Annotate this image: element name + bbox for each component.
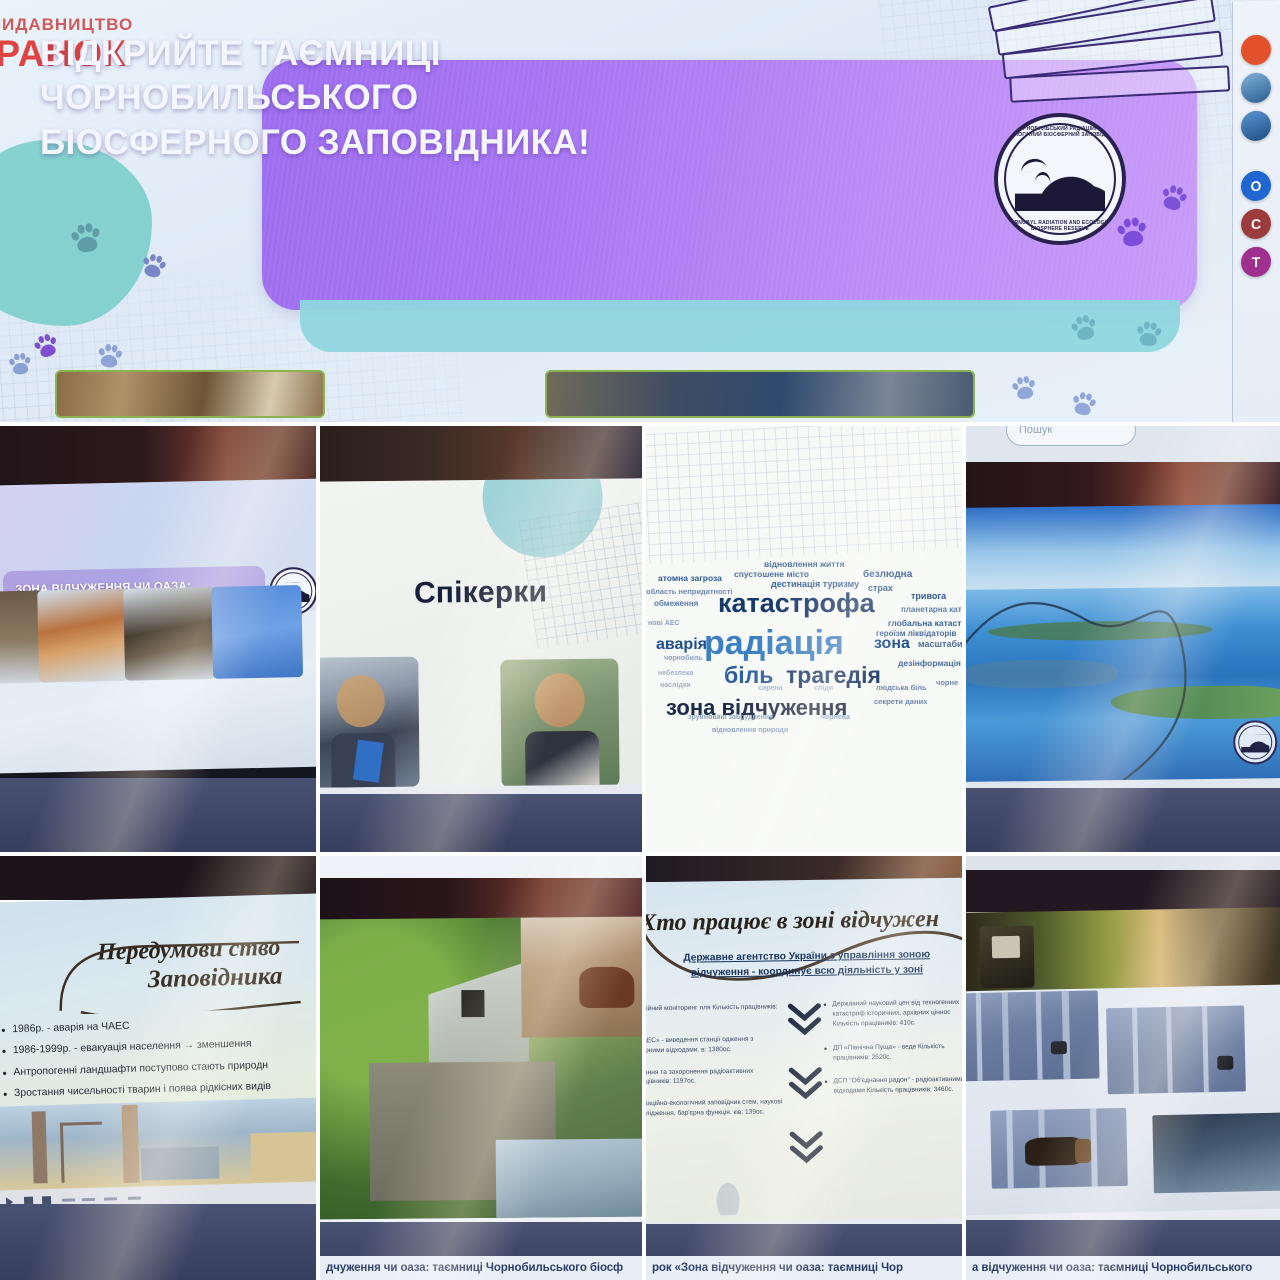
word-cloud-term: сирена [758, 685, 783, 692]
caption-bar: рок «Зона відчуження чи оаза: таємниці Ч… [646, 1256, 962, 1280]
word-cloud-term: дезінформація [898, 659, 961, 668]
word-cloud-term: чорнобиль [664, 655, 703, 662]
camera-trap-photo-2 [1106, 1005, 1246, 1094]
word-cloud-term: зона [874, 636, 910, 652]
dark-room-top [320, 878, 642, 920]
word-cloud-term: аварія [656, 637, 707, 653]
horse-inset-photo [521, 917, 642, 1038]
banner-screenshot: ВИДАВНИЦТВО РАНОК ВІДКРИЙТЕ ТАЄМНИЦІ ЧОР… [0, 0, 1280, 422]
word-cloud-term: людська біль [876, 684, 927, 692]
projection-screen: Хто працює в зоні відчужен Державне аген… [646, 878, 962, 1223]
speaker-photo-1 [320, 657, 420, 788]
who-works-item: ДСП "Об'єднання радон" - радіоактивними … [824, 1075, 962, 1097]
projection-screen: Передумови ство Заповідника 1986р. - ава… [0, 893, 316, 1212]
hand-title-swoosh [49, 928, 311, 1015]
dark-room-bottom [320, 794, 642, 852]
dark-room-bottom [0, 778, 316, 852]
animal-photo-swans [211, 585, 303, 679]
avatar-face [534, 673, 585, 728]
word-cloud-term: масштаби [918, 640, 962, 649]
who-works-item: ДП «Північна Пуща» - веде Кількість прац… [824, 1041, 962, 1063]
who-works-item: ка АЕС» - виведення станції одження з яд… [646, 1034, 784, 1056]
banner-title-line1: ВІДКРИЙТЕ ТАЄМНИЦІ [40, 32, 700, 76]
word-cloud-term: героїзм ліквідаторів [876, 630, 956, 638]
seal-bottom-text: CHORNOBYL RADIATION AND ECOLOGICAL BIOSP… [998, 220, 1122, 232]
slide-bullet-item: 1986р. - аварія на ЧАЕС [0, 1015, 316, 1037]
word-cloud-term: чорне [936, 679, 958, 687]
bullet-dot: • [824, 1076, 827, 1090]
rail-participant-s[interactable]: С [1241, 208, 1271, 239]
paw-print-icon [1136, 319, 1162, 347]
aerial-photo [966, 504, 1280, 782]
banner-teal-underbar [300, 300, 1180, 352]
dark-room-top [0, 426, 316, 484]
word-cloud-term: біль [724, 664, 773, 687]
animal-silhouette [1051, 1041, 1067, 1054]
forward-icon[interactable] [82, 1198, 95, 1201]
slide-bullet-item: 1986-1999р. - евакуація населення → змен… [0, 1037, 316, 1059]
photo-who-works-slide: Хто працює в зоні відчужен Державне аген… [646, 856, 962, 1280]
rail-participant-t[interactable]: Т [1241, 246, 1271, 277]
rewind-icon[interactable] [62, 1198, 75, 1201]
projection-screen: ЗОНА ВІДЧУЖЕННЯ ЧИ ОАЗА: ТАЄМНИЦІ ЧОРНОБ… [0, 479, 316, 774]
camera-trap-photo-3 [990, 1108, 1128, 1189]
caption-bar: а відчуження чи оаза: таємниці Чорнобиль… [966, 1256, 1280, 1280]
projection-screen: Спікерки Марія Мельничук-Володькіна кері… [320, 478, 642, 787]
hare-watermark [708, 1169, 749, 1216]
word-cloud-term: страх [868, 584, 893, 593]
chevron-down-icon [789, 1130, 823, 1164]
camera-trap-photo-4 [1152, 1113, 1280, 1194]
word-cloud-term: планетарна кат [901, 606, 962, 614]
word-cloud-term: обмеження [654, 600, 698, 608]
rail-record-indicator[interactable] [1241, 34, 1271, 65]
animal-silhouette [1217, 1056, 1233, 1070]
rail-participant-o[interactable]: О [1241, 170, 1271, 201]
paw-print-icon [70, 220, 103, 254]
bullet-dot: • [823, 999, 826, 1013]
abandoned-house-photo [320, 917, 642, 1220]
thumbnail-forest-1 [55, 370, 325, 418]
word-cloud-term: катастрофа [718, 590, 875, 617]
elk-silhouette [1025, 1137, 1082, 1166]
photo-title-slide: ЗОНА ВІДЧУЖЕННЯ ЧИ ОАЗА: ТАЄМНИЦІ ЧОРНОБ… [0, 426, 316, 852]
laptop-lid-edge [966, 856, 1280, 870]
seal-landscape-scene [1241, 734, 1270, 753]
dark-room-bottom [966, 788, 1280, 852]
dark-room-top [966, 870, 1280, 912]
word-cloud-term: атомна загроза [658, 574, 722, 583]
publisher-logo-top: ВИДАВНИЦТВО [0, 16, 136, 33]
camera-lens [992, 936, 1020, 958]
word-cloud-term: безлюдна [863, 570, 912, 580]
slide-bullet-item: Антропогенні ландшафти поступово стають … [0, 1058, 316, 1080]
end-icon[interactable] [128, 1197, 141, 1200]
who-works-right-column: Державний науковий цен від техногенних к… [823, 998, 962, 1111]
paw-print-icon [8, 351, 31, 376]
camera-trap-banner-photo [966, 907, 1280, 995]
who-works-left-column: діаційний моніторинг лля Кількість праці… [646, 1002, 785, 1131]
next-icon[interactable] [104, 1197, 117, 1200]
forest-inset-photo [496, 1139, 642, 1218]
photo-speakers-slide: Спікерки Марія Мельничук-Володькіна кері… [320, 426, 642, 852]
word-cloud-term: секрети даних [874, 698, 927, 706]
banner-title-line2: ЧОРНОБИЛЬСЬКОГО [40, 76, 700, 120]
camera-trap-photo-1 [966, 990, 1100, 1081]
photo-collage: ВИДАВНИЦТВО РАНОК ВІДКРИЙТЕ ТАЄМНИЦІ ЧОР… [0, 0, 1280, 1280]
who-works-item: діаційний моніторинг лля Кількість праці… [646, 1002, 784, 1024]
dark-room-top [320, 426, 642, 482]
word-cloud-term: нові АЕС [648, 620, 679, 627]
slide-subtitle: Державне агентство України з управління … [655, 948, 959, 982]
horse-silhouette [579, 967, 635, 1008]
bottom-thumbnail-strip [55, 370, 1175, 422]
bullet-dot: • [824, 1042, 827, 1056]
word-cloud-term: тривога [911, 592, 946, 601]
word-cloud-term: спустошене місто [734, 570, 809, 579]
avatar-face [336, 675, 385, 727]
chevron-down-icon [788, 1066, 822, 1100]
word-cloud-term: радіація [704, 626, 844, 660]
animal-photo-fox [37, 589, 129, 683]
word-cloud-term: глобальна катастр [888, 619, 962, 628]
dark-room-top [966, 462, 1280, 510]
photo-word-cloud-slide: радіаціякатастрофабільтрагедіязона відчу… [646, 426, 962, 852]
photo-camera-trap-slide: а відчуження чи оаза: таємниці Чорнобиль… [966, 856, 1280, 1280]
thumbnail-forest-2 [545, 370, 975, 418]
rail-video-thumb-2[interactable] [1241, 110, 1271, 141]
photo-preconditions-slide: Передумови ство Заповідника 1986р. - ава… [0, 856, 316, 1280]
animal-photo-row [0, 585, 316, 688]
slide-heading: Спікерки [320, 574, 642, 611]
calf-silhouette [1075, 1139, 1091, 1163]
word-cloud-term: трагедія [786, 664, 881, 687]
meeting-right-rail[interactable]: О С Т [1232, 0, 1280, 422]
word-cloud: радіаціякатастрофабільтрагедіязона відчу… [646, 426, 962, 852]
search-input[interactable]: Пошук [1006, 426, 1136, 446]
banner-title: ВІДКРИЙТЕ ТАЄМНИЦІ ЧОРНОБИЛЬСЬКОГО БІОСФ… [40, 32, 700, 165]
word-cloud-words: радіаціякатастрофабільтрагедіязона відчу… [646, 522, 962, 762]
held-folder [353, 740, 384, 783]
house-window [461, 990, 484, 1017]
caption-bar: дчуження чи оаза: таємниці Чорнобильсько… [320, 1256, 642, 1280]
paw-print-icon [97, 341, 123, 369]
who-works-item: радіаційно-екологічний заповідник стем, … [646, 1098, 785, 1120]
chaes-construction-photo [0, 1097, 316, 1190]
word-cloud-term: відновлення природи [712, 727, 788, 734]
word-cloud-term: сліди [814, 685, 833, 692]
who-works-item: Державний науковий цен від техногенних к… [823, 998, 962, 1030]
animal-photo-elk [123, 587, 217, 681]
speaker-photo-2 [500, 659, 619, 788]
dark-room-top [0, 856, 316, 900]
who-works-item: ергання та захоронення радіоактивних пра… [646, 1066, 784, 1088]
projection-screen [966, 985, 1280, 1216]
word-cloud-term: область непридатності [646, 588, 732, 596]
word-cloud-term: відновлення життя [764, 560, 845, 569]
word-cloud-term: дестинація туризму [771, 580, 859, 589]
word-cloud-term: зруйновані забруднення [688, 714, 773, 721]
photo-aerial-river-slide: Пошук [966, 426, 1280, 852]
banner-title-line3: БІОСФЕРНОГО ЗАПОВІДНИКА! [40, 121, 700, 165]
avatar-body [525, 731, 600, 788]
word-cloud-term: наслідки [660, 682, 691, 689]
word-cloud-term: небезпека [658, 670, 693, 677]
photo-abandoned-house-slide: дчуження чи оаза: таємниці Чорнобильсько… [320, 856, 642, 1280]
chevron-down-icon [787, 1002, 821, 1036]
word-cloud-term: чорнева [821, 714, 850, 721]
rail-video-thumb-1[interactable] [1241, 72, 1271, 103]
dark-room-bottom [0, 1204, 316, 1280]
